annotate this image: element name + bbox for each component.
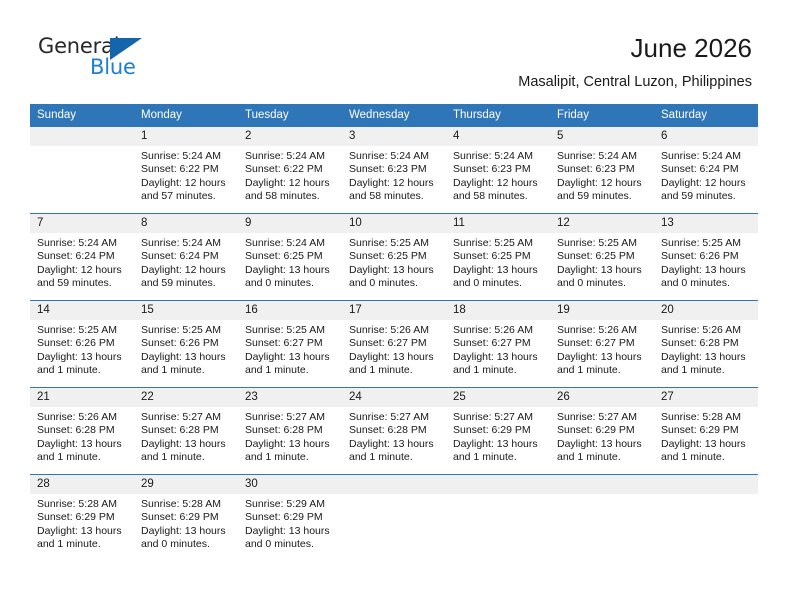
daylight-text-line2: and 1 minute. (37, 538, 128, 551)
page-subtitle-location: Masalipit, Central Luzon, Philippines (518, 74, 752, 90)
sunset-text: Sunset: 6:23 PM (349, 163, 440, 176)
day-details: Sunrise: 5:24 AM Sunset: 6:24 PM Dayligh… (30, 233, 134, 291)
daylight-text-line1: Daylight: 12 hours (557, 177, 648, 190)
weekday-header-tuesday: Tuesday (238, 104, 342, 127)
daylight-text-line1: Daylight: 13 hours (453, 438, 544, 451)
day-details: Sunrise: 5:27 AM Sunset: 6:29 PM Dayligh… (446, 407, 550, 465)
page-title: June 2026 (631, 33, 752, 64)
day-number: 5 (550, 127, 654, 146)
day-details: Sunrise: 5:28 AM Sunset: 6:29 PM Dayligh… (30, 494, 134, 552)
day-details: Sunrise: 5:26 AM Sunset: 6:27 PM Dayligh… (550, 320, 654, 378)
day-details: Sunrise: 5:25 AM Sunset: 6:26 PM Dayligh… (134, 320, 238, 378)
day-details: Sunrise: 5:29 AM Sunset: 6:29 PM Dayligh… (238, 494, 342, 552)
day-details: Sunrise: 5:24 AM Sunset: 6:24 PM Dayligh… (134, 233, 238, 291)
day-details: Sunrise: 5:24 AM Sunset: 6:25 PM Dayligh… (238, 233, 342, 291)
general-blue-logo[interactable]: General Blue (38, 34, 158, 82)
daylight-text-line2: and 58 minutes. (349, 190, 440, 203)
daylight-text-line1: Daylight: 13 hours (661, 438, 752, 451)
daylight-text-line1: Daylight: 12 hours (245, 177, 336, 190)
daylight-text-line1: Daylight: 12 hours (37, 264, 128, 277)
day-number: 29 (134, 475, 238, 494)
weekday-header-wednesday: Wednesday (342, 104, 446, 127)
day-details (550, 494, 654, 498)
sunset-text: Sunset: 6:29 PM (245, 511, 336, 524)
day-cell[interactable]: 12 Sunrise: 5:25 AM Sunset: 6:25 PM Dayl… (550, 214, 654, 301)
sunrise-text: Sunrise: 5:26 AM (37, 411, 128, 424)
day-number (446, 475, 550, 494)
day-cell[interactable]: 7 Sunrise: 5:24 AM Sunset: 6:24 PM Dayli… (30, 214, 134, 301)
sunset-text: Sunset: 6:26 PM (37, 337, 128, 350)
page-header: General Blue June 2026 Masalipit, Centra… (0, 0, 792, 100)
day-number: 14 (30, 301, 134, 320)
daylight-text-line2: and 1 minute. (141, 451, 232, 464)
day-details: Sunrise: 5:24 AM Sunset: 6:24 PM Dayligh… (654, 146, 758, 204)
daylight-text-line2: and 1 minute. (453, 451, 544, 464)
daylight-text-line1: Daylight: 13 hours (557, 264, 648, 277)
day-cell[interactable]: 15 Sunrise: 5:25 AM Sunset: 6:26 PM Dayl… (134, 301, 238, 388)
day-number: 17 (342, 301, 446, 320)
sunset-text: Sunset: 6:27 PM (557, 337, 648, 350)
day-number: 28 (30, 475, 134, 494)
day-details: Sunrise: 5:27 AM Sunset: 6:28 PM Dayligh… (342, 407, 446, 465)
weekday-header-thursday: Thursday (446, 104, 550, 127)
day-number (30, 127, 134, 146)
day-details: Sunrise: 5:25 AM Sunset: 6:26 PM Dayligh… (654, 233, 758, 291)
sunrise-text: Sunrise: 5:28 AM (37, 498, 128, 511)
day-number (550, 475, 654, 494)
day-cell[interactable]: 1 Sunrise: 5:24 AM Sunset: 6:22 PM Dayli… (134, 127, 238, 214)
day-number: 9 (238, 214, 342, 233)
sunset-text: Sunset: 6:27 PM (245, 337, 336, 350)
sunrise-text: Sunrise: 5:28 AM (661, 411, 752, 424)
sunrise-sunset-calendar-table: Sunday Monday Tuesday Wednesday Thursday… (30, 104, 758, 561)
sunset-text: Sunset: 6:23 PM (557, 163, 648, 176)
daylight-text-line2: and 0 minutes. (349, 277, 440, 290)
sunset-text: Sunset: 6:29 PM (661, 424, 752, 437)
daylight-text-line1: Daylight: 13 hours (141, 525, 232, 538)
sunset-text: Sunset: 6:26 PM (141, 337, 232, 350)
sunrise-text: Sunrise: 5:26 AM (557, 324, 648, 337)
calendar-week-row: 1 Sunrise: 5:24 AM Sunset: 6:22 PM Dayli… (30, 127, 758, 214)
daylight-text-line1: Daylight: 12 hours (453, 177, 544, 190)
sunset-text: Sunset: 6:25 PM (349, 250, 440, 263)
weekday-header-saturday: Saturday (654, 104, 758, 127)
daylight-text-line2: and 57 minutes. (141, 190, 232, 203)
day-number: 26 (550, 388, 654, 407)
day-details: Sunrise: 5:25 AM Sunset: 6:25 PM Dayligh… (342, 233, 446, 291)
daylight-text-line1: Daylight: 12 hours (349, 177, 440, 190)
day-cell[interactable]: 10 Sunrise: 5:25 AM Sunset: 6:25 PM Dayl… (342, 214, 446, 301)
daylight-text-line2: and 1 minute. (37, 364, 128, 377)
sunrise-text: Sunrise: 5:25 AM (349, 237, 440, 250)
daylight-text-line1: Daylight: 13 hours (557, 351, 648, 364)
daylight-text-line1: Daylight: 13 hours (37, 351, 128, 364)
sunrise-text: Sunrise: 5:27 AM (349, 411, 440, 424)
daylight-text-line2: and 1 minute. (453, 364, 544, 377)
day-cell[interactable]: 22 Sunrise: 5:27 AM Sunset: 6:28 PM Dayl… (134, 388, 238, 475)
day-cell[interactable] (654, 475, 758, 562)
weekday-header-sunday: Sunday (30, 104, 134, 127)
day-number: 15 (134, 301, 238, 320)
daylight-text-line2: and 0 minutes. (245, 277, 336, 290)
sunset-text: Sunset: 6:24 PM (661, 163, 752, 176)
daylight-text-line2: and 0 minutes. (245, 538, 336, 551)
day-number: 3 (342, 127, 446, 146)
day-cell[interactable]: 27 Sunrise: 5:28 AM Sunset: 6:29 PM Dayl… (654, 388, 758, 475)
sunrise-text: Sunrise: 5:26 AM (453, 324, 544, 337)
sunrise-text: Sunrise: 5:24 AM (453, 150, 544, 163)
day-details: Sunrise: 5:24 AM Sunset: 6:23 PM Dayligh… (342, 146, 446, 204)
sunrise-text: Sunrise: 5:24 AM (37, 237, 128, 250)
day-number: 27 (654, 388, 758, 407)
day-number: 13 (654, 214, 758, 233)
daylight-text-line1: Daylight: 13 hours (557, 438, 648, 451)
sunrise-text: Sunrise: 5:25 AM (453, 237, 544, 250)
weekday-header-friday: Friday (550, 104, 654, 127)
day-number: 22 (134, 388, 238, 407)
daylight-text-line1: Daylight: 13 hours (245, 264, 336, 277)
sunset-text: Sunset: 6:23 PM (453, 163, 544, 176)
day-number: 7 (30, 214, 134, 233)
day-details (30, 146, 134, 150)
day-cell[interactable]: 28 Sunrise: 5:28 AM Sunset: 6:29 PM Dayl… (30, 475, 134, 562)
calendar-body: 1 Sunrise: 5:24 AM Sunset: 6:22 PM Dayli… (30, 127, 758, 562)
daylight-text-line2: and 1 minute. (245, 364, 336, 377)
sunrise-text: Sunrise: 5:25 AM (141, 324, 232, 337)
day-number: 25 (446, 388, 550, 407)
sunset-text: Sunset: 6:24 PM (37, 250, 128, 263)
day-details (342, 494, 446, 498)
calendar-week-row: 14 Sunrise: 5:25 AM Sunset: 6:26 PM Dayl… (30, 301, 758, 388)
sunset-text: Sunset: 6:22 PM (245, 163, 336, 176)
day-number: 23 (238, 388, 342, 407)
weekday-header-monday: Monday (134, 104, 238, 127)
daylight-text-line2: and 58 minutes. (245, 190, 336, 203)
sunset-text: Sunset: 6:24 PM (141, 250, 232, 263)
daylight-text-line2: and 59 minutes. (37, 277, 128, 290)
day-cell[interactable]: 20 Sunrise: 5:26 AM Sunset: 6:28 PM Dayl… (654, 301, 758, 388)
daylight-text-line2: and 59 minutes. (661, 190, 752, 203)
day-cell[interactable]: 17 Sunrise: 5:26 AM Sunset: 6:27 PM Dayl… (342, 301, 446, 388)
sunrise-text: Sunrise: 5:25 AM (37, 324, 128, 337)
daylight-text-line2: and 1 minute. (557, 364, 648, 377)
day-cell[interactable]: 24 Sunrise: 5:27 AM Sunset: 6:28 PM Dayl… (342, 388, 446, 475)
day-cell[interactable] (446, 475, 550, 562)
day-cell[interactable]: 9 Sunrise: 5:24 AM Sunset: 6:25 PM Dayli… (238, 214, 342, 301)
sunrise-text: Sunrise: 5:24 AM (245, 237, 336, 250)
day-cell[interactable]: 21 Sunrise: 5:26 AM Sunset: 6:28 PM Dayl… (30, 388, 134, 475)
sunrise-text: Sunrise: 5:29 AM (245, 498, 336, 511)
day-cell[interactable]: 23 Sunrise: 5:27 AM Sunset: 6:28 PM Dayl… (238, 388, 342, 475)
daylight-text-line1: Daylight: 13 hours (245, 351, 336, 364)
calendar-week-row: 21 Sunrise: 5:26 AM Sunset: 6:28 PM Dayl… (30, 388, 758, 475)
day-number: 19 (550, 301, 654, 320)
calendar-page: General Blue June 2026 Masalipit, Centra… (0, 0, 792, 612)
daylight-text-line2: and 1 minute. (349, 451, 440, 464)
day-cell[interactable]: 30 Sunrise: 5:29 AM Sunset: 6:29 PM Dayl… (238, 475, 342, 562)
sunrise-text: Sunrise: 5:27 AM (141, 411, 232, 424)
day-details: Sunrise: 5:26 AM Sunset: 6:27 PM Dayligh… (342, 320, 446, 378)
day-cell[interactable] (550, 475, 654, 562)
sunrise-text: Sunrise: 5:27 AM (245, 411, 336, 424)
day-cell[interactable]: 25 Sunrise: 5:27 AM Sunset: 6:29 PM Dayl… (446, 388, 550, 475)
day-cell[interactable]: 11 Sunrise: 5:25 AM Sunset: 6:25 PM Dayl… (446, 214, 550, 301)
sunrise-text: Sunrise: 5:28 AM (141, 498, 232, 511)
daylight-text-line2: and 0 minutes. (661, 277, 752, 290)
day-number: 21 (30, 388, 134, 407)
daylight-text-line1: Daylight: 12 hours (141, 177, 232, 190)
day-cell[interactable]: 19 Sunrise: 5:26 AM Sunset: 6:27 PM Dayl… (550, 301, 654, 388)
day-details: Sunrise: 5:27 AM Sunset: 6:29 PM Dayligh… (550, 407, 654, 465)
daylight-text-line1: Daylight: 12 hours (661, 177, 752, 190)
day-number: 18 (446, 301, 550, 320)
daylight-text-line2: and 59 minutes. (557, 190, 648, 203)
calendar-header-row-group: Sunday Monday Tuesday Wednesday Thursday… (30, 104, 758, 127)
sunrise-text: Sunrise: 5:27 AM (557, 411, 648, 424)
day-cell[interactable]: 3 Sunrise: 5:24 AM Sunset: 6:23 PM Dayli… (342, 127, 446, 214)
daylight-text-line1: Daylight: 13 hours (141, 438, 232, 451)
sunset-text: Sunset: 6:25 PM (557, 250, 648, 263)
daylight-text-line2: and 58 minutes. (453, 190, 544, 203)
sunrise-text: Sunrise: 5:24 AM (349, 150, 440, 163)
sunset-text: Sunset: 6:28 PM (661, 337, 752, 350)
sunrise-text: Sunrise: 5:25 AM (661, 237, 752, 250)
day-details: Sunrise: 5:27 AM Sunset: 6:28 PM Dayligh… (238, 407, 342, 465)
day-cell[interactable]: 2 Sunrise: 5:24 AM Sunset: 6:22 PM Dayli… (238, 127, 342, 214)
day-details: Sunrise: 5:28 AM Sunset: 6:29 PM Dayligh… (134, 494, 238, 552)
day-number (342, 475, 446, 494)
daylight-text-line1: Daylight: 13 hours (37, 438, 128, 451)
daylight-text-line1: Daylight: 12 hours (141, 264, 232, 277)
day-cell[interactable]: 4 Sunrise: 5:24 AM Sunset: 6:23 PM Dayli… (446, 127, 550, 214)
weekday-header-row: Sunday Monday Tuesday Wednesday Thursday… (30, 104, 758, 127)
sunrise-text: Sunrise: 5:26 AM (661, 324, 752, 337)
sunrise-text: Sunrise: 5:26 AM (349, 324, 440, 337)
calendar-week-row: 7 Sunrise: 5:24 AM Sunset: 6:24 PM Dayli… (30, 214, 758, 301)
daylight-text-line2: and 1 minute. (245, 451, 336, 464)
day-cell[interactable]: 29 Sunrise: 5:28 AM Sunset: 6:29 PM Dayl… (134, 475, 238, 562)
day-number: 16 (238, 301, 342, 320)
sunset-text: Sunset: 6:29 PM (37, 511, 128, 524)
sunset-text: Sunset: 6:27 PM (349, 337, 440, 350)
day-details: Sunrise: 5:25 AM Sunset: 6:27 PM Dayligh… (238, 320, 342, 378)
day-details: Sunrise: 5:25 AM Sunset: 6:25 PM Dayligh… (446, 233, 550, 291)
day-number (654, 475, 758, 494)
sunset-text: Sunset: 6:25 PM (245, 250, 336, 263)
daylight-text-line1: Daylight: 13 hours (141, 351, 232, 364)
day-details: Sunrise: 5:26 AM Sunset: 6:28 PM Dayligh… (654, 320, 758, 378)
daylight-text-line2: and 59 minutes. (141, 277, 232, 290)
day-cell[interactable]: 16 Sunrise: 5:25 AM Sunset: 6:27 PM Dayl… (238, 301, 342, 388)
day-cell[interactable]: 8 Sunrise: 5:24 AM Sunset: 6:24 PM Dayli… (134, 214, 238, 301)
day-cell[interactable]: 6 Sunrise: 5:24 AM Sunset: 6:24 PM Dayli… (654, 127, 758, 214)
sunset-text: Sunset: 6:28 PM (141, 424, 232, 437)
sunset-text: Sunset: 6:29 PM (557, 424, 648, 437)
day-details: Sunrise: 5:26 AM Sunset: 6:27 PM Dayligh… (446, 320, 550, 378)
daylight-text-line2: and 1 minute. (557, 451, 648, 464)
day-details: Sunrise: 5:25 AM Sunset: 6:25 PM Dayligh… (550, 233, 654, 291)
day-number: 30 (238, 475, 342, 494)
daylight-text-line1: Daylight: 13 hours (245, 525, 336, 538)
day-cell[interactable]: 26 Sunrise: 5:27 AM Sunset: 6:29 PM Dayl… (550, 388, 654, 475)
daylight-text-line2: and 1 minute. (349, 364, 440, 377)
day-number: 20 (654, 301, 758, 320)
day-details: Sunrise: 5:25 AM Sunset: 6:26 PM Dayligh… (30, 320, 134, 378)
sunrise-text: Sunrise: 5:24 AM (661, 150, 752, 163)
day-number: 11 (446, 214, 550, 233)
sunset-text: Sunset: 6:26 PM (661, 250, 752, 263)
daylight-text-line1: Daylight: 13 hours (453, 351, 544, 364)
day-cell[interactable]: 13 Sunrise: 5:25 AM Sunset: 6:26 PM Dayl… (654, 214, 758, 301)
day-cell[interactable] (342, 475, 446, 562)
sunrise-text: Sunrise: 5:27 AM (453, 411, 544, 424)
day-number: 10 (342, 214, 446, 233)
daylight-text-line1: Daylight: 13 hours (453, 264, 544, 277)
logo-text-blue: Blue (90, 55, 136, 79)
day-cell[interactable] (30, 127, 134, 214)
day-details: Sunrise: 5:24 AM Sunset: 6:22 PM Dayligh… (238, 146, 342, 204)
sunset-text: Sunset: 6:22 PM (141, 163, 232, 176)
daylight-text-line2: and 1 minute. (661, 451, 752, 464)
sunrise-text: Sunrise: 5:24 AM (245, 150, 336, 163)
daylight-text-line1: Daylight: 13 hours (349, 264, 440, 277)
day-details: Sunrise: 5:24 AM Sunset: 6:23 PM Dayligh… (446, 146, 550, 204)
daylight-text-line1: Daylight: 13 hours (37, 525, 128, 538)
daylight-text-line1: Daylight: 13 hours (661, 264, 752, 277)
sunset-text: Sunset: 6:29 PM (453, 424, 544, 437)
sunset-text: Sunset: 6:25 PM (453, 250, 544, 263)
daylight-text-line1: Daylight: 13 hours (661, 351, 752, 364)
day-details (446, 494, 550, 498)
sunset-text: Sunset: 6:29 PM (141, 511, 232, 524)
day-number: 8 (134, 214, 238, 233)
sunrise-text: Sunrise: 5:24 AM (141, 150, 232, 163)
day-details: Sunrise: 5:28 AM Sunset: 6:29 PM Dayligh… (654, 407, 758, 465)
daylight-text-line1: Daylight: 13 hours (245, 438, 336, 451)
sunrise-text: Sunrise: 5:24 AM (141, 237, 232, 250)
daylight-text-line2: and 1 minute. (141, 364, 232, 377)
day-number: 2 (238, 127, 342, 146)
daylight-text-line2: and 1 minute. (661, 364, 752, 377)
day-number: 1 (134, 127, 238, 146)
day-cell[interactable]: 18 Sunrise: 5:26 AM Sunset: 6:27 PM Dayl… (446, 301, 550, 388)
day-details: Sunrise: 5:24 AM Sunset: 6:22 PM Dayligh… (134, 146, 238, 204)
day-number: 4 (446, 127, 550, 146)
sunset-text: Sunset: 6:27 PM (453, 337, 544, 350)
day-details: Sunrise: 5:24 AM Sunset: 6:23 PM Dayligh… (550, 146, 654, 204)
daylight-text-line2: and 0 minutes. (141, 538, 232, 551)
daylight-text-line1: Daylight: 13 hours (349, 438, 440, 451)
sunset-text: Sunset: 6:28 PM (245, 424, 336, 437)
day-cell[interactable]: 14 Sunrise: 5:25 AM Sunset: 6:26 PM Dayl… (30, 301, 134, 388)
sunrise-text: Sunrise: 5:25 AM (557, 237, 648, 250)
daylight-text-line2: and 0 minutes. (557, 277, 648, 290)
calendar-week-row: 28 Sunrise: 5:28 AM Sunset: 6:29 PM Dayl… (30, 475, 758, 562)
day-number: 6 (654, 127, 758, 146)
day-number: 24 (342, 388, 446, 407)
sunrise-text: Sunrise: 5:25 AM (245, 324, 336, 337)
day-number: 12 (550, 214, 654, 233)
sunset-text: Sunset: 6:28 PM (349, 424, 440, 437)
daylight-text-line1: Daylight: 13 hours (349, 351, 440, 364)
sunrise-text: Sunrise: 5:24 AM (557, 150, 648, 163)
daylight-text-line2: and 0 minutes. (453, 277, 544, 290)
sunset-text: Sunset: 6:28 PM (37, 424, 128, 437)
daylight-text-line2: and 1 minute. (37, 451, 128, 464)
day-cell[interactable]: 5 Sunrise: 5:24 AM Sunset: 6:23 PM Dayli… (550, 127, 654, 214)
day-details: Sunrise: 5:26 AM Sunset: 6:28 PM Dayligh… (30, 407, 134, 465)
day-details (654, 494, 758, 498)
day-details: Sunrise: 5:27 AM Sunset: 6:28 PM Dayligh… (134, 407, 238, 465)
